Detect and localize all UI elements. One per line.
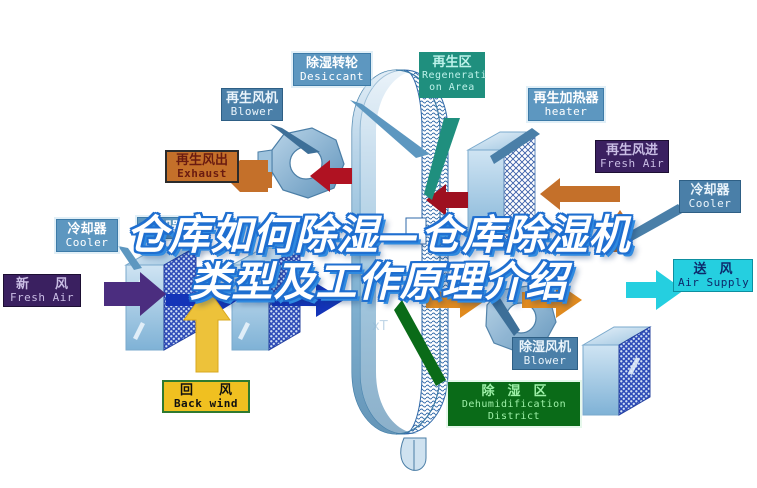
label-cooler-right: 冷却器 Cooler [679,180,741,213]
label-desiccant-wheel-en: Desiccant [298,71,366,83]
regen-intake-arrow-shape [540,178,620,210]
label-dehumidification-area-cn: 除 湿 区 [452,385,576,399]
label-cooler-right-en: Cooler [684,198,736,210]
label-dehumidification-blower-cn: 除湿风机 [517,341,573,355]
label-exhaust-en: Exhaust [171,168,233,180]
label-cooler-right-cn: 冷却器 [684,184,736,198]
label-dehumidification-area: 除 湿 区 Dehumidification District [448,382,580,426]
svg-text:xT: xT [372,319,388,334]
label-dehumidification-blower-en: Blower [517,355,573,367]
label-regeneration-area: 再生区 Regenerati on Area [419,52,485,98]
label-regeneration-heater-en: heater [533,106,599,118]
page-title-line-1: 仓库如何除湿—仓库除湿机 [0,212,757,259]
label-dehumidification-blower: 除湿风机 Blower [512,337,578,370]
label-regeneration-heater-cn: 再生加热器 [533,92,599,106]
label-exhaust: 再生风出 Exhaust [165,150,239,183]
supply-cooler-unit [583,327,650,415]
label-desiccant-wheel-cn: 除湿转轮 [298,57,366,71]
label-regeneration-intake: 再生风进 Fresh Air [595,140,669,173]
label-regeneration-area-en: Regenerati on Area [422,70,482,94]
page-title: 仓库如何除湿—仓库除湿机 类型及工作原理介绍 [0,212,757,306]
label-regeneration-heater: 再生加热器 heater [528,88,604,121]
label-dehumidification-area-en: Dehumidification District [452,399,576,423]
label-regeneration-blower-en: Blower [226,106,278,118]
label-back-wind-cn: 回 风 [168,384,244,398]
label-desiccant-wheel: 除湿转轮 Desiccant [293,53,371,86]
label-regeneration-blower-cn: 再生风机 [226,92,278,106]
label-regeneration-blower: 再生风机 Blower [221,88,283,121]
label-regeneration-intake-cn: 再生风进 [600,144,664,158]
dehumidifier-diagram-image: xT [0,0,757,488]
label-exhaust-cn: 再生风出 [171,154,233,168]
label-regeneration-intake-en: Fresh Air [600,158,664,170]
label-regeneration-area-cn: 再生区 [422,56,482,70]
label-back-wind: 回 风 Back wind [162,380,250,413]
page-title-line-2: 类型及工作原理介绍 [0,259,757,306]
label-back-wind-en: Back wind [168,398,244,410]
